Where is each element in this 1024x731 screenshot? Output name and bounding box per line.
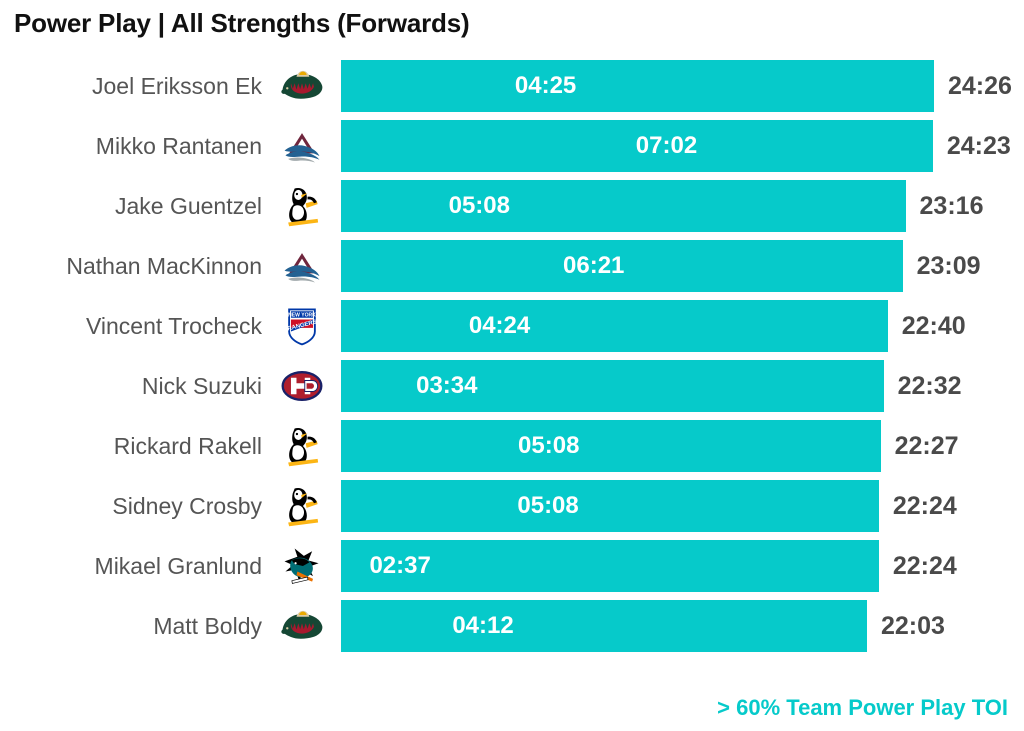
toi-bar — [341, 600, 867, 652]
team-logo-icon — [262, 180, 341, 232]
team-logo-icon — [262, 360, 341, 412]
toi-bar — [341, 240, 903, 292]
team-logo-icon — [262, 60, 341, 112]
page-title: Power Play | All Strengths (Forwards) — [14, 8, 469, 39]
bar-track: 04:1222:03 — [341, 600, 1024, 652]
bar-track: 05:0822:27 — [341, 420, 1024, 472]
chart-row: Matt Boldy04:1222:03 — [0, 600, 1024, 652]
toi-bar — [341, 480, 879, 532]
chart-row: Rickard Rakell05:0822:27 — [0, 420, 1024, 472]
toi-bar — [341, 360, 884, 412]
total-toi-label: 22:40 — [902, 300, 966, 352]
total-toi-label: 22:24 — [893, 540, 957, 592]
team-logo-icon — [262, 600, 341, 652]
bar-chart-rows: Joel Eriksson Ek04:2524:26Mikko Rantanen… — [0, 60, 1024, 660]
team-logo-icon — [262, 480, 341, 532]
bar-track: 03:3422:32 — [341, 360, 1024, 412]
bar-track: 04:2524:26 — [341, 60, 1024, 112]
team-logo-icon: NEW YORKRANGERS — [262, 300, 341, 352]
total-toi-label: 24:23 — [947, 120, 1011, 172]
chart-row: Nick Suzuki03:3422:32 — [0, 360, 1024, 412]
bar-track: 05:0823:16 — [341, 180, 1024, 232]
player-name: Joel Eriksson Ek — [0, 73, 262, 100]
toi-bar — [341, 180, 906, 232]
total-toi-label: 23:09 — [917, 240, 981, 292]
team-logo-icon — [262, 540, 341, 592]
player-name: Vincent Trocheck — [0, 313, 262, 340]
total-toi-label: 23:16 — [920, 180, 984, 232]
chart-row: Mikko Rantanen07:0224:23 — [0, 120, 1024, 172]
player-name: Jake Guentzel — [0, 193, 262, 220]
legend-note: > 60% Team Power Play TOI — [717, 695, 1008, 721]
team-logo-icon — [262, 420, 341, 472]
svg-text:NEW YORK: NEW YORK — [288, 312, 316, 318]
chart-row: Joel Eriksson Ek04:2524:26 — [0, 60, 1024, 112]
total-toi-label: 22:27 — [895, 420, 959, 472]
chart-row: Nathan MacKinnon06:2123:09 — [0, 240, 1024, 292]
total-toi-label: 22:03 — [881, 600, 945, 652]
bar-track: 04:2422:40 — [341, 300, 1024, 352]
bar-track: 06:2123:09 — [341, 240, 1024, 292]
player-name: Nick Suzuki — [0, 373, 262, 400]
chart-row: Jake Guentzel05:0823:16 — [0, 180, 1024, 232]
toi-bar — [341, 120, 933, 172]
team-logo-icon — [262, 120, 341, 172]
chart-row: Mikael Granlund02:3722:24 — [0, 540, 1024, 592]
player-name: Matt Boldy — [0, 613, 262, 640]
player-name: Rickard Rakell — [0, 433, 262, 460]
total-toi-label: 22:24 — [893, 480, 957, 532]
team-logo-icon — [262, 240, 341, 292]
player-name: Mikael Granlund — [0, 553, 262, 580]
player-name: Mikko Rantanen — [0, 133, 262, 160]
toi-bar — [341, 420, 881, 472]
toi-bar — [341, 540, 879, 592]
bar-track: 05:0822:24 — [341, 480, 1024, 532]
toi-bar — [341, 60, 934, 112]
chart-row: Vincent TrocheckNEW YORKRANGERS04:2422:4… — [0, 300, 1024, 352]
toi-bar — [341, 300, 888, 352]
bar-track: 02:3722:24 — [341, 540, 1024, 592]
player-name: Nathan MacKinnon — [0, 253, 262, 280]
bar-track: 07:0224:23 — [341, 120, 1024, 172]
total-toi-label: 24:26 — [948, 60, 1012, 112]
player-name: Sidney Crosby — [0, 493, 262, 520]
total-toi-label: 22:32 — [898, 360, 962, 412]
chart-row: Sidney Crosby05:0822:24 — [0, 480, 1024, 532]
